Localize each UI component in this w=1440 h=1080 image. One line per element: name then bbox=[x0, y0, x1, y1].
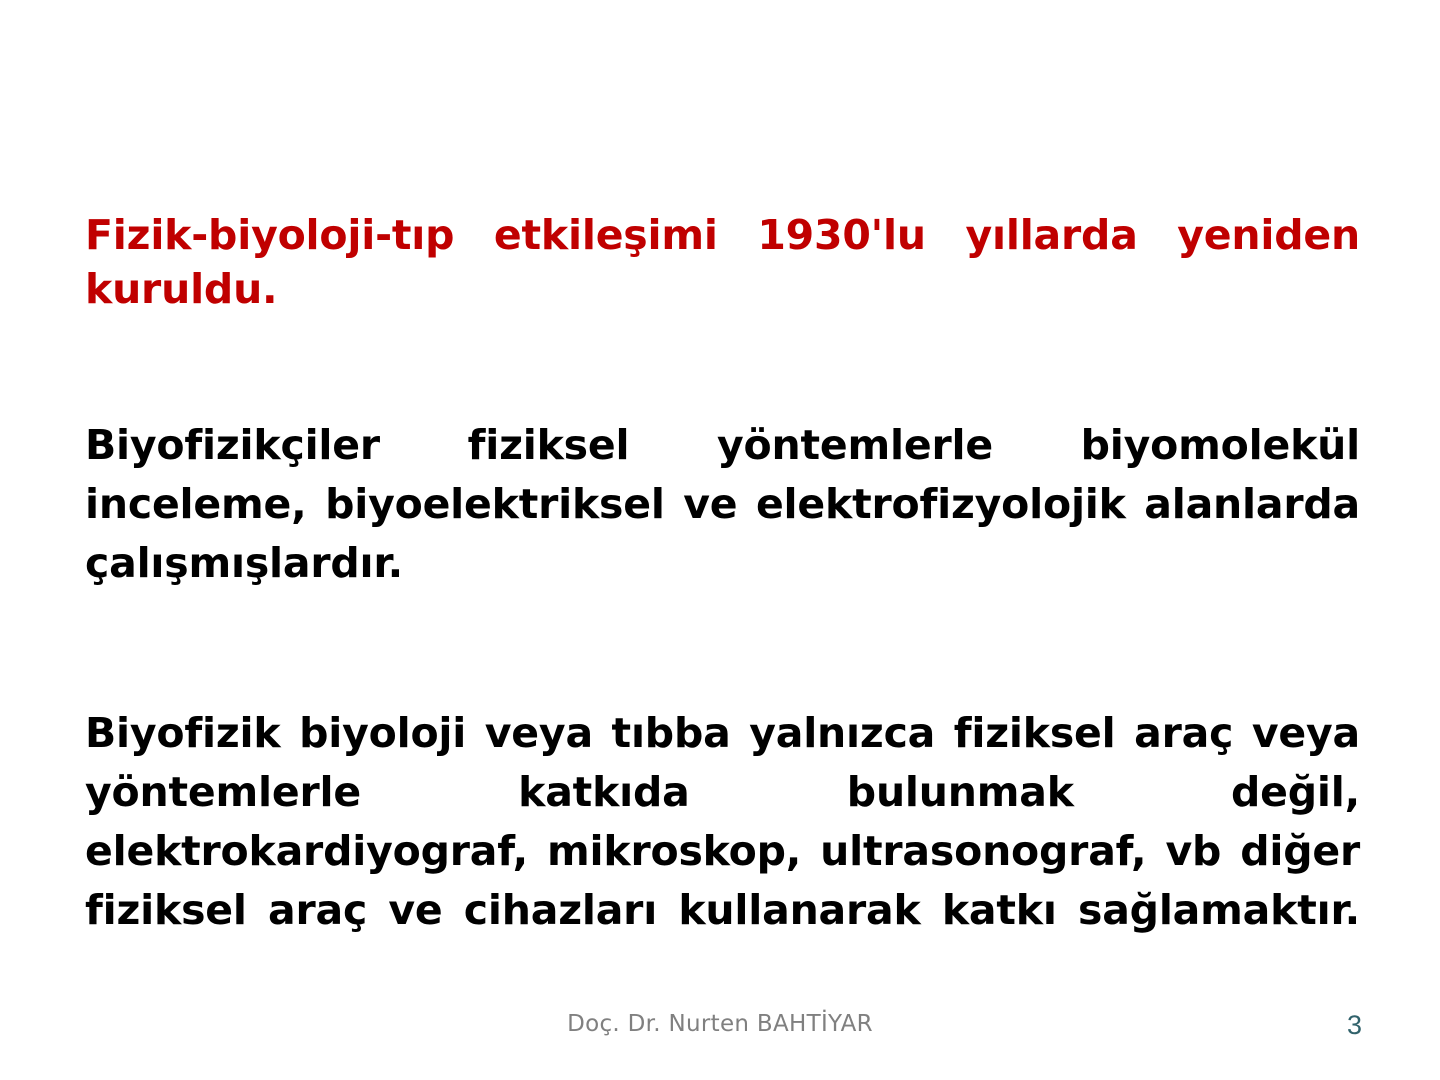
slide-page-number: 3 bbox=[1347, 1010, 1362, 1041]
slide-body-paragraph-1: Biyofizikçiler fiziksel yöntemlerle biyo… bbox=[85, 416, 1360, 652]
slide-heading-paragraph: Fizik-biyoloji-tıp etkileşimi 1930'lu yı… bbox=[85, 208, 1360, 370]
slide-footer: Doç. Dr. Nurten BAHTİYAR 3 bbox=[0, 1005, 1440, 1055]
slide-body-paragraph-2: Biyofizik biyoloji veya tıbba yalnızca f… bbox=[85, 704, 1360, 999]
footer-author-name: Doç. Dr. Nurten BAHTİYAR bbox=[0, 1011, 1440, 1037]
slide-canvas: Fizik-biyoloji-tıp etkileşimi 1930'lu yı… bbox=[0, 0, 1440, 1080]
slide-body-content: Fizik-biyoloji-tıp etkileşimi 1930'lu yı… bbox=[85, 208, 1360, 999]
